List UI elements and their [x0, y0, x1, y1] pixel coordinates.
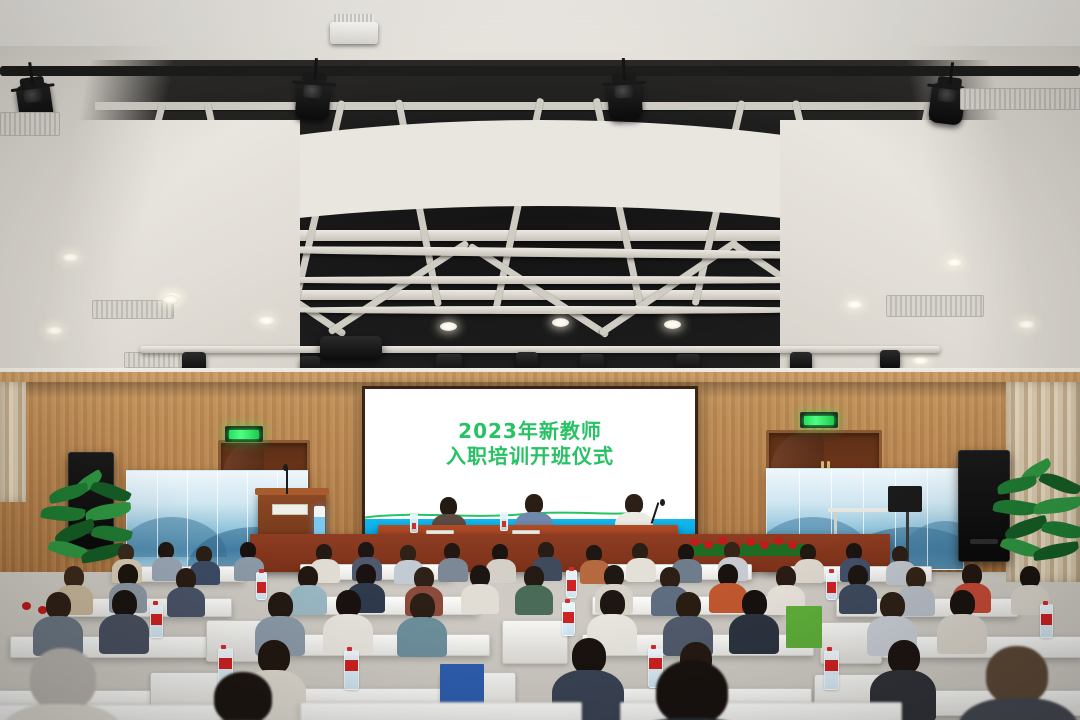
side-table-right [828, 508, 888, 512]
downlight-12 [946, 258, 963, 267]
wifi-access-point [330, 22, 378, 44]
truss-fixture-8 [880, 350, 900, 370]
downlight-8 [440, 322, 457, 331]
table-microphone-head [660, 499, 665, 506]
podium-microphone-head [283, 464, 288, 471]
ac-grille-left [0, 112, 60, 136]
ac-grille-right [960, 88, 1080, 110]
ceiling-projector [320, 336, 382, 360]
exit-sign-right [800, 412, 838, 428]
flower-row-right [688, 536, 808, 556]
exit-sign-left [225, 426, 263, 442]
downlight-9 [552, 318, 569, 327]
light-rail [0, 66, 1080, 76]
table-bottle-center [500, 512, 508, 531]
conference-hall-photo: 2023年新教师 入职培训开班仪式 [0, 0, 1080, 720]
downlight-10 [664, 320, 681, 329]
ac-diffuser-right [886, 295, 984, 317]
ac-diffuser-left [92, 300, 174, 319]
table-bottle-left [410, 514, 418, 533]
curtain-left [0, 382, 26, 502]
downlight-6 [162, 295, 179, 304]
downlight-11 [846, 300, 863, 309]
potted-plant-right [992, 460, 1080, 580]
slide-title: 2023年新教师 入职培训开班仪式 [365, 419, 695, 469]
video-camera [888, 486, 922, 512]
slide-title-line1: 2023年新教师 [365, 419, 695, 444]
downlight-1 [62, 253, 79, 262]
slide-title-line2: 入职培训开班仪式 [365, 444, 695, 469]
green-tote-bag [786, 606, 822, 648]
stage-light-3 [607, 79, 643, 121]
stage-light-2 [295, 79, 332, 121]
downlight-14 [912, 356, 929, 365]
downlight-13 [1018, 320, 1035, 329]
podium-nameplate [272, 504, 308, 515]
downlight-3 [46, 326, 63, 335]
lighting-truss-bar [140, 346, 940, 353]
podium-microphone [286, 468, 288, 494]
downlight-7 [258, 316, 275, 325]
